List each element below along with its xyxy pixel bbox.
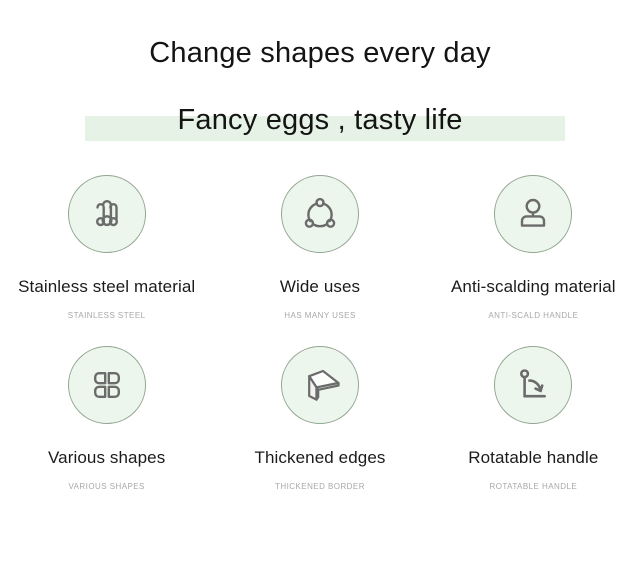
feature-title: Various shapes [48,448,165,468]
angle-bracket-icon [296,361,344,409]
feature-subtitle: THICKENED BORDER [275,482,365,491]
feature-subtitle: ANTI-SCALD HANDLE [488,311,578,320]
feature-subtitle: ROTATABLE HANDLE [489,482,577,491]
feature-row: Various shapes VARIOUS SHAPES Thickened … [0,346,640,491]
feature-grid: Stainless steel material STAINLESS STEEL [0,175,640,491]
feature-title: Rotatable handle [468,448,598,468]
feature-card-thickened-edges[interactable]: Thickened edges THICKENED BORDER [213,346,426,491]
icon-circle [494,346,572,424]
icon-circle [281,346,359,424]
page-header: Change shapes every day Fancy eggs , tas… [0,0,640,143]
feature-subtitle: HAS MANY USES [284,311,356,320]
icon-circle [281,175,359,253]
page-subheadline: Fancy eggs , tasty life [0,97,640,143]
feature-row: Stainless steel material STAINLESS STEEL [0,175,640,320]
page-headline: Change shapes every day [0,36,640,71]
feature-subtitle: STAINLESS STEEL [68,311,146,320]
steel-tubes-icon [84,191,130,237]
four-squares-icon [84,362,130,408]
network-nodes-icon [297,191,343,237]
feature-title: Anti-scalding material [451,277,616,297]
icon-circle [68,346,146,424]
feature-card-rotatable-handle[interactable]: Rotatable handle ROTATABLE HANDLE [427,346,640,491]
person-handle-icon [510,191,556,237]
page-subheadline-wrap: Fancy eggs , tasty life [0,97,640,143]
feature-subtitle: VARIOUS SHAPES [68,482,144,491]
feature-card-stainless-steel[interactable]: Stainless steel material STAINLESS STEEL [0,175,213,320]
feature-title: Wide uses [280,277,360,297]
feature-card-wide-uses[interactable]: Wide uses HAS MANY USES [213,175,426,320]
feature-card-various-shapes[interactable]: Various shapes VARIOUS SHAPES [0,346,213,491]
feature-title: Stainless steel material [18,277,195,297]
feature-title: Thickened edges [255,448,386,468]
icon-circle [68,175,146,253]
rotate-handle-icon [510,362,556,408]
feature-card-anti-scalding[interactable]: Anti-scalding material ANTI-SCALD HANDLE [427,175,640,320]
icon-circle [494,175,572,253]
